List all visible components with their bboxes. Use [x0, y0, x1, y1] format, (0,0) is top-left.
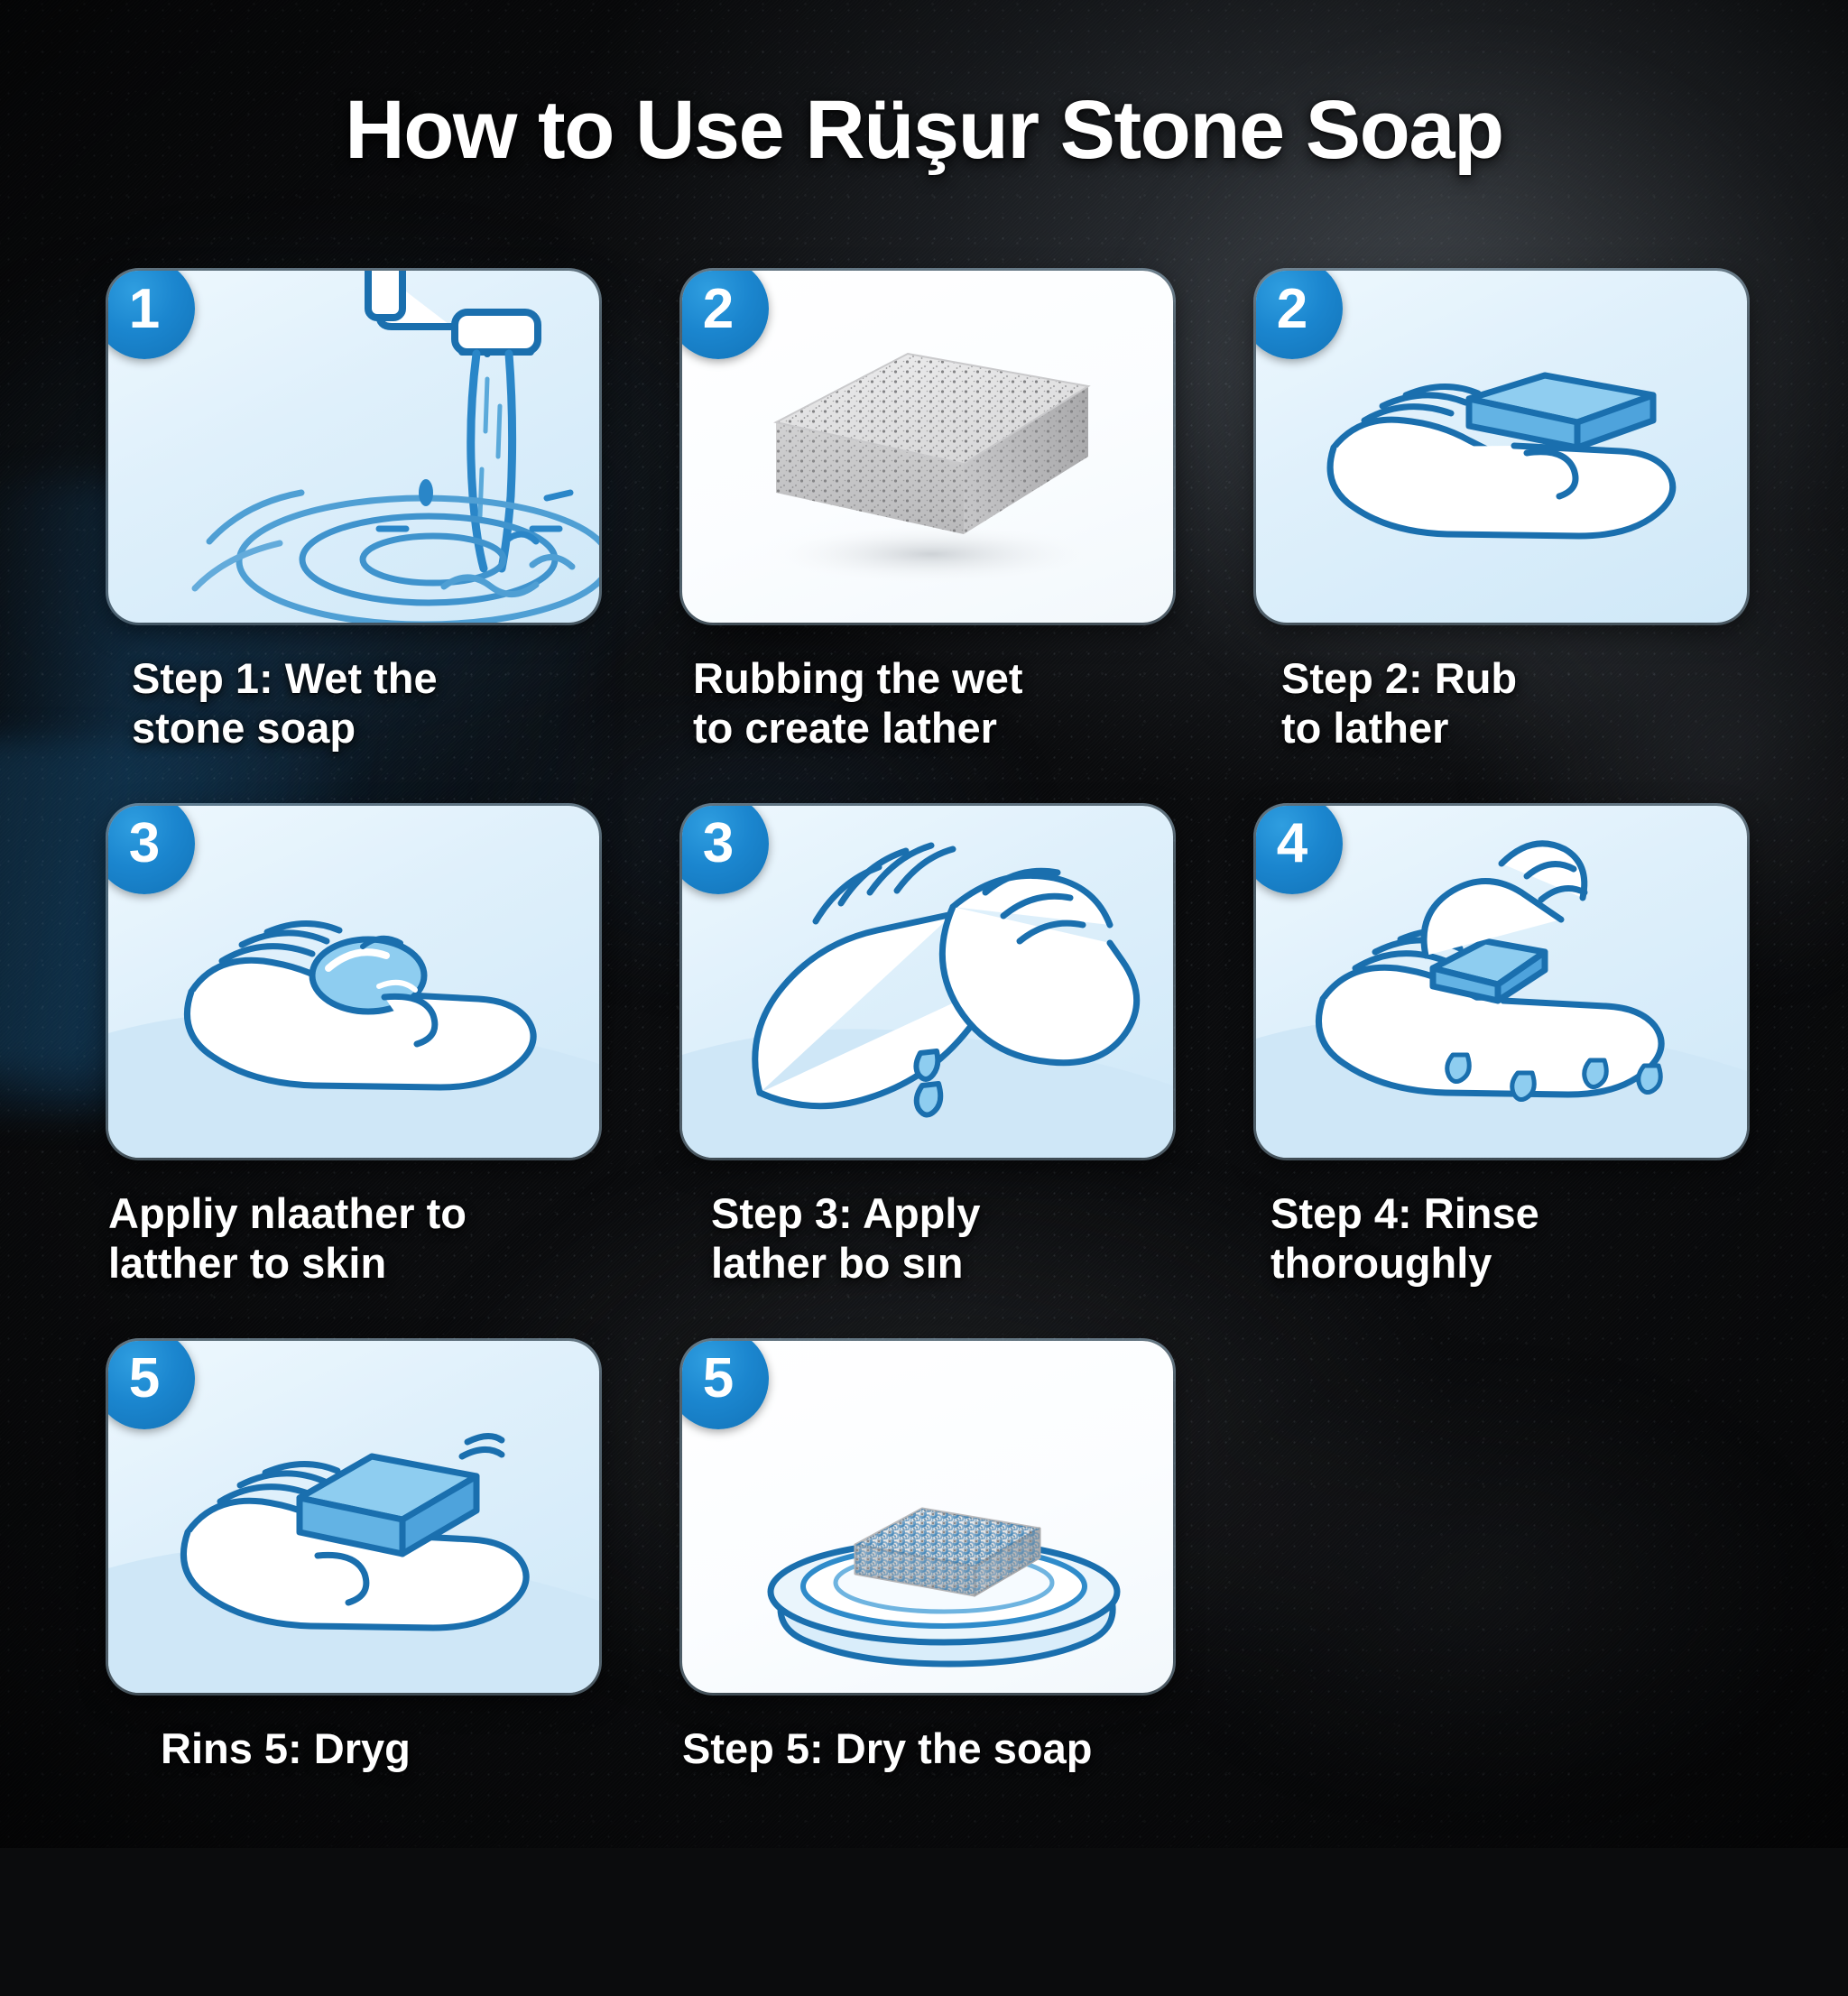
page-title: How to Use Rüşur Stone Soap: [0, 88, 1848, 171]
step-card-2[interactable]: 2 Rubbing the wet to create lather: [682, 271, 1173, 753]
step-caption: Rins 5: Dryg: [108, 1723, 599, 1773]
step-card-4[interactable]: 3 Appliy nlaather to latther to skin: [108, 806, 599, 1289]
steps-row-3-spacer: [1256, 1341, 1747, 1773]
step-card-6[interactable]: 4 Step 4: Rinse thoroughly: [1256, 806, 1747, 1289]
steps-grid: 1 Step 1: Wet the stone soap: [108, 271, 1747, 1773]
step-caption: Rubbing the wet to create lather: [682, 653, 1173, 753]
step-caption: Step 3: Apply lather bo sın: [682, 1188, 1173, 1289]
step-caption: Step 4: Rinse thoroughly: [1256, 1188, 1747, 1289]
step-caption: Step 2: Rub to lather: [1256, 653, 1747, 753]
step-caption: Appliy nlaather to latther to skin: [108, 1188, 599, 1289]
step-card-8[interactable]: 5 Step 5: Dry the soap: [682, 1341, 1173, 1773]
steps-row-2: 3 Appliy nlaather to latther to skin: [108, 806, 1747, 1289]
steps-row-1: 1 Step 1: Wet the stone soap: [108, 271, 1747, 753]
step-card-1[interactable]: 1 Step 1: Wet the stone soap: [108, 271, 599, 753]
steps-row-3: 5 Rins 5: Dryg: [108, 1341, 1747, 1773]
step-caption: Step 1: Wet the stone soap: [108, 653, 599, 753]
step-card-7[interactable]: 5 Rins 5: Dryg: [108, 1341, 599, 1773]
step-card-5[interactable]: 3 Step 3: Apply lather bo sın: [682, 806, 1173, 1289]
step-card-3[interactable]: 2 Step 2: Rub to lather: [1256, 271, 1747, 753]
step-caption: Step 5: Dry the soap: [682, 1723, 1173, 1773]
